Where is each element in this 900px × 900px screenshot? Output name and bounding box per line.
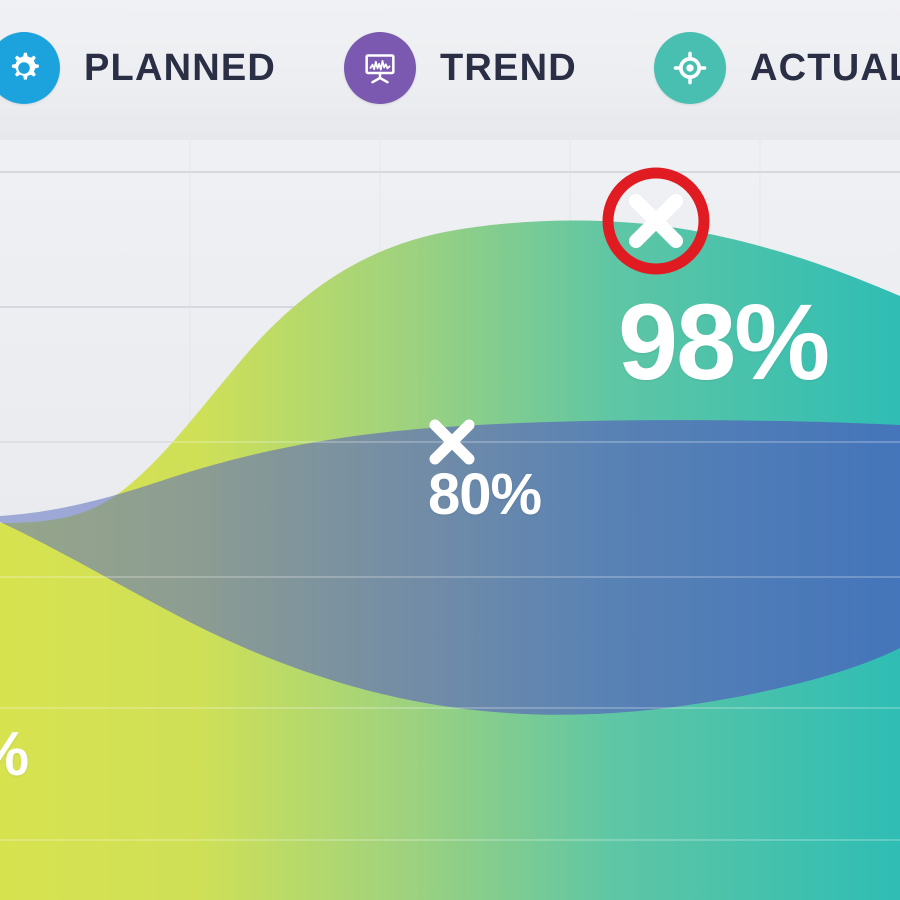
legend-label-actual: ACTUAL [750,47,900,90]
gear-icon [3,47,45,89]
legend-item-trend[interactable]: TREND [344,28,577,108]
legend-item-planned[interactable]: PLANNED [0,28,276,108]
presentation-chart-icon [360,48,400,88]
legend-bar: PLANNED TREND [0,0,900,140]
target-crosshair-icon [670,48,710,88]
planned-badge [0,32,60,104]
legend-item-actual[interactable]: ACTUAL [654,28,900,108]
trend-badge [344,32,416,104]
chart-screen: 98% 80% % PLANNED [0,0,900,900]
legend-label-planned: PLANNED [84,47,276,90]
legend-label-trend: TREND [440,47,577,90]
legend-items: PLANNED TREND [0,0,900,140]
actual-badge [654,32,726,104]
